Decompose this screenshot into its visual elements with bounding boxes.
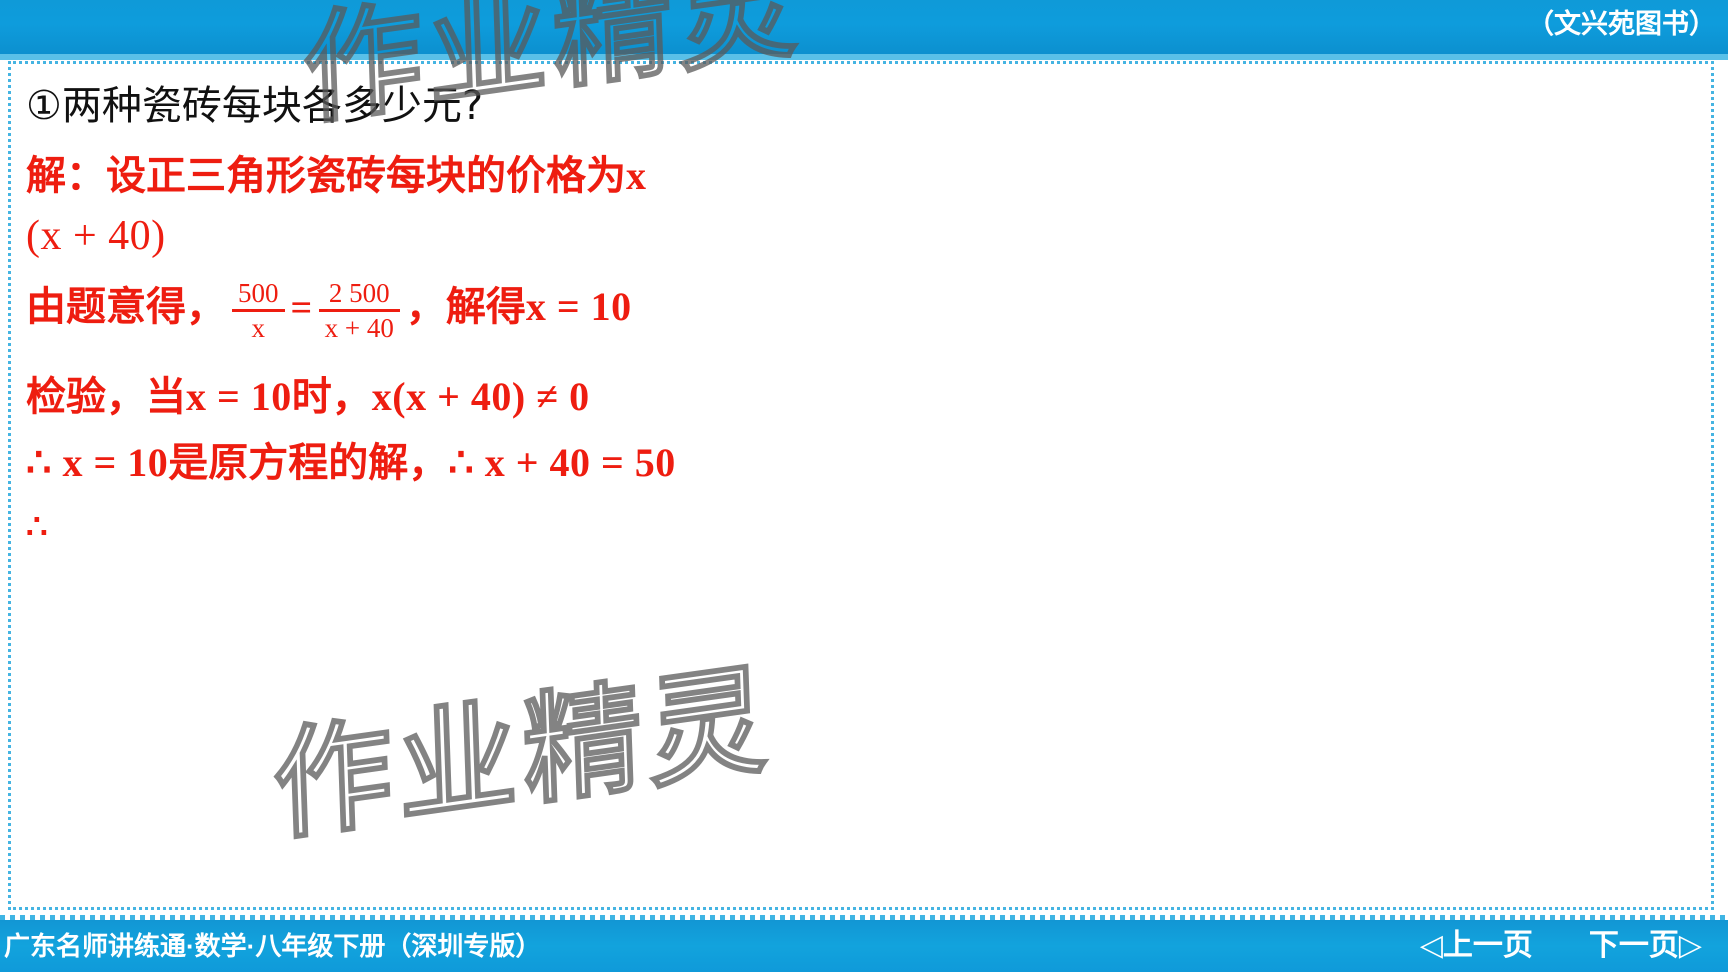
series-label: 广东名师讲练通·数学·八年级下册（深圳专版） bbox=[4, 928, 541, 964]
footer-bar: 广东名师讲练通·数学·八年级下册（深圳专版） ◁上一页 下一页▷ bbox=[0, 920, 1728, 972]
check-value: x = 10 bbox=[186, 374, 292, 419]
conclusion-solution: ∴ x = 10 bbox=[26, 440, 168, 485]
question-line: ①两种瓷砖每块各多少元? bbox=[26, 78, 1686, 134]
equals-sign: = bbox=[291, 287, 313, 329]
answer-line-therefore: ∴ bbox=[26, 497, 1686, 556]
fraction-right-bar bbox=[319, 309, 400, 312]
solution-variable: x bbox=[626, 153, 647, 198]
footer-dotted-divider bbox=[0, 915, 1728, 920]
header-bar: （文兴苑图书） bbox=[0, 0, 1728, 54]
conclusion-other-price: ∴ x + 40 = 50 bbox=[448, 440, 676, 485]
fraction-right-denominator: x + 40 bbox=[319, 313, 400, 343]
content-body: ①两种瓷砖每块各多少元? 解：设正三角形瓷砖每块的价格为x (x + 40) 由… bbox=[26, 78, 1686, 558]
check-when-text: 当 bbox=[146, 374, 186, 420]
publisher-label: （文兴苑图书） bbox=[1527, 7, 1716, 41]
slide-page: （文兴苑图书） ①两种瓷砖每块各多少元? 解：设正三角形瓷砖每块的价格为x (x… bbox=[0, 0, 1728, 972]
footer-navigation: ◁上一页 下一页▷ bbox=[1420, 926, 1702, 966]
fraction-right-numerator: 2 500 bbox=[319, 278, 400, 308]
equation-prefix-text: 由题意得， bbox=[26, 284, 226, 330]
header-underline bbox=[0, 54, 1728, 60]
answer-line-conclusion: ∴ x = 10是原方程的解，∴ x + 40 = 50 bbox=[26, 435, 1686, 491]
conclusion-text: 是原方程的解， bbox=[168, 440, 448, 486]
fraction-left-denominator: x bbox=[232, 313, 285, 343]
therefore-symbol: ∴ bbox=[26, 509, 48, 546]
check-label: 检验， bbox=[26, 374, 146, 420]
fraction-left-numerator: 500 bbox=[232, 278, 285, 308]
check-when-suffix: 时， bbox=[292, 374, 372, 420]
next-page-button[interactable]: 下一页▷ bbox=[1589, 926, 1702, 966]
answer-line-check: 检验，当x = 10时，x(x + 40) ≠ 0 bbox=[26, 369, 1686, 425]
equation-comma: ， bbox=[406, 284, 446, 330]
answer-line-solution-setup: 解：设正三角形瓷砖每块的价格为x bbox=[26, 148, 1686, 204]
answer-line-solution-setup-cont: (x + 40) bbox=[26, 208, 1686, 264]
prev-page-button[interactable]: ◁上一页 bbox=[1420, 926, 1533, 966]
fraction-left-bar bbox=[232, 309, 285, 312]
fraction-left: 500 x bbox=[232, 278, 285, 343]
equation-solve-text: 解得 bbox=[446, 284, 526, 330]
solution-expression: (x + 40) bbox=[26, 213, 166, 259]
fraction-right: 2 500 x + 40 bbox=[319, 278, 400, 343]
solution-prefix-text: 解：设正三角形瓷砖每块的价格为 bbox=[26, 153, 626, 199]
check-expression: x(x + 40) ≠ 0 bbox=[372, 374, 590, 419]
answer-line-equation: 由题意得， 500 x = 2 500 x + 40 ，解得x = 10 bbox=[26, 278, 1686, 343]
equation-result: x = 10 bbox=[526, 284, 632, 329]
